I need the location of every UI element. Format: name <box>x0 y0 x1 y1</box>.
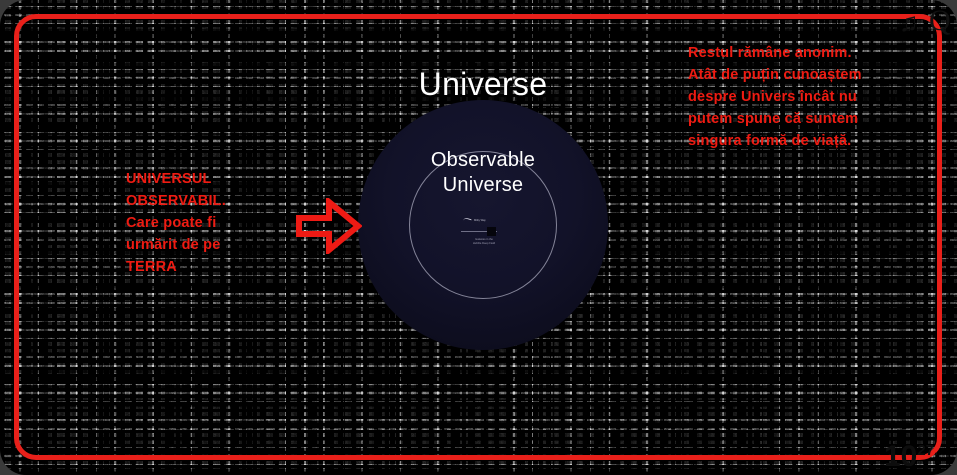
scale-base: 10 <box>884 440 917 473</box>
scale-magnitude-label: 1027. <box>884 436 938 472</box>
music-note-icon: ♫ <box>899 9 919 35</box>
deep-field-thumbnail <box>487 227 496 236</box>
disc-title: Observable Universe <box>358 148 608 198</box>
arrow-right-icon <box>296 198 362 254</box>
annotation-right: Restul rămâne anonim. Atât de puțin cuno… <box>688 42 868 152</box>
central-illustration: Milky Way Galaxies in the Hubble Deep Fi… <box>461 218 507 248</box>
page-title: Universe <box>393 66 573 102</box>
observable-universe-disc: Observable Universe Milky Way Galaxies i… <box>358 100 608 350</box>
galaxy-swoosh-icon <box>462 217 471 225</box>
annotation-left: UNIVERSUL OBSERVABIL. Care poate fi urmă… <box>126 168 261 278</box>
deep-field-caption: Galaxies in the Hubble Deep Field <box>459 238 509 245</box>
q-glyph-icon: Q <box>929 6 951 36</box>
slide-canvas: Universe Observable Universe Milky Way G… <box>0 0 957 475</box>
milky-way-label: Milky Way <box>474 219 486 222</box>
scale-exponent: 27. <box>917 442 938 459</box>
